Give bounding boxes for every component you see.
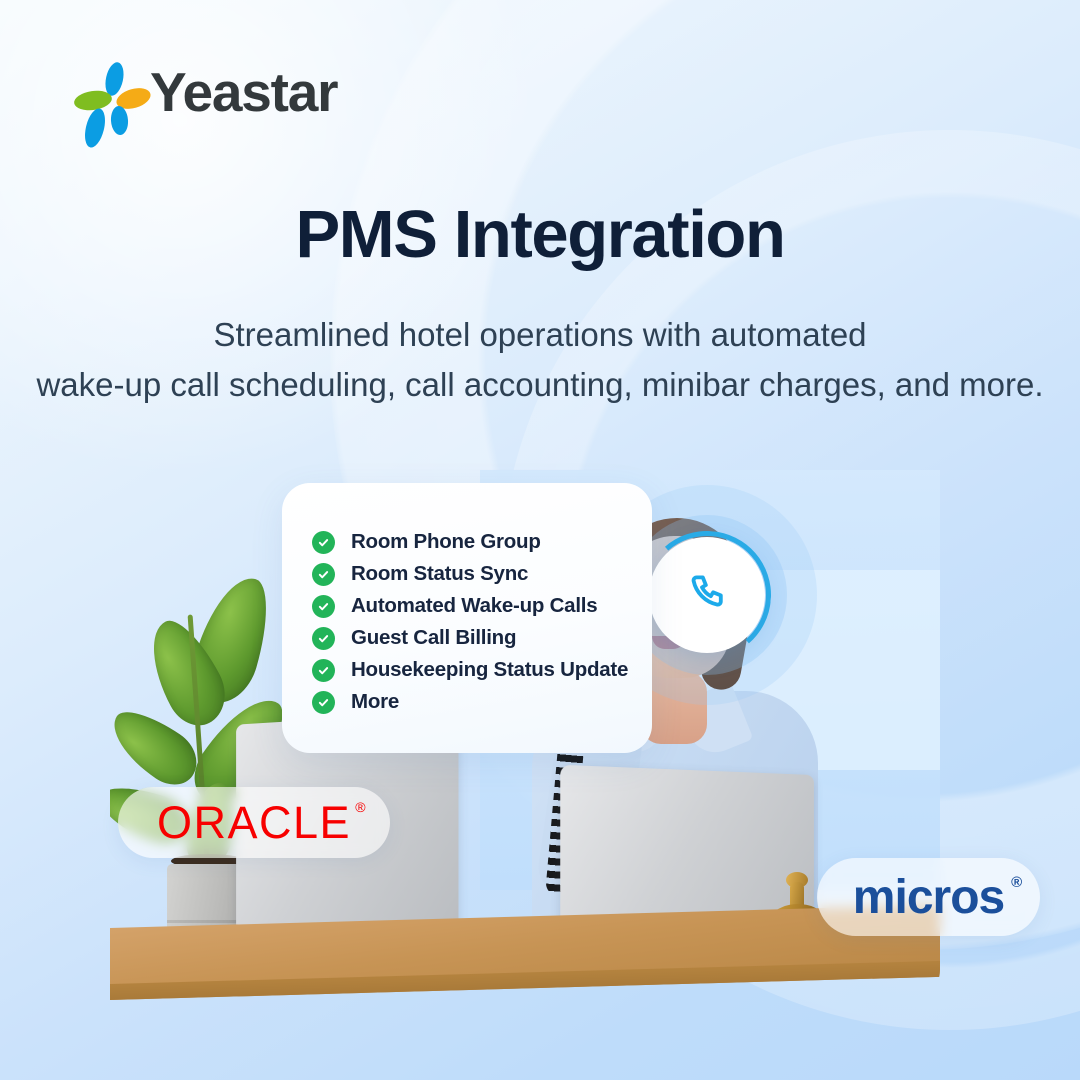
brand-wordmark: Yeastar: [150, 65, 337, 124]
list-item-label: More: [351, 690, 399, 714]
list-item[interactable]: Guest Call Billing: [312, 626, 732, 650]
list-item[interactable]: Housekeeping Status Update: [312, 658, 732, 682]
list-item-label: Guest Call Billing: [351, 626, 516, 650]
micros-wordmark: micros: [853, 871, 1004, 924]
brand-logo[interactable]: Yeastar: [78, 63, 337, 125]
logo-petal-bottom-left: [81, 106, 108, 149]
list-item[interactable]: Room Status Sync: [312, 562, 732, 586]
list-item-label: Room Status Sync: [351, 562, 528, 586]
list-item-label: Automated Wake-up Calls: [351, 594, 597, 618]
subtitle-line-2: wake-up call scheduling, call accounting…: [0, 360, 1080, 410]
yeastar-pinwheel-icon: [78, 63, 136, 125]
check-circle-icon: [312, 563, 335, 586]
partner-badge-micros[interactable]: micros ®: [817, 858, 1040, 936]
feature-list: Room Phone Group Room Status Sync Automa…: [312, 530, 732, 714]
list-item-label: Housekeeping Status Update: [351, 658, 628, 682]
check-circle-icon: [312, 627, 335, 650]
list-item[interactable]: More: [312, 690, 732, 714]
page-title: PMS Integration: [0, 196, 1080, 273]
page-subtitle: Streamlined hotel operations with automa…: [0, 310, 1080, 409]
check-circle-icon: [312, 659, 335, 682]
partner-badge-oracle[interactable]: ORACLE ®: [118, 787, 390, 858]
micros-logo: micros ®: [853, 870, 1004, 925]
promo-canvas: Yeastar PMS Integration Streamlined hote…: [0, 0, 1080, 1080]
list-item[interactable]: Room Phone Group: [312, 530, 732, 554]
check-circle-icon: [312, 691, 335, 714]
check-circle-icon: [312, 595, 335, 618]
logo-petal-left: [73, 88, 113, 112]
oracle-logo: ORACLE ®: [157, 797, 351, 849]
list-item[interactable]: Automated Wake-up Calls: [312, 594, 732, 618]
subtitle-line-1: Streamlined hotel operations with automa…: [0, 310, 1080, 360]
check-circle-icon: [312, 531, 335, 554]
registered-mark: ®: [355, 799, 367, 815]
logo-petal-bottom-middle: [110, 105, 129, 135]
registered-mark: ®: [1011, 874, 1021, 891]
list-item-label: Room Phone Group: [351, 530, 541, 554]
oracle-wordmark: ORACLE: [157, 797, 351, 848]
